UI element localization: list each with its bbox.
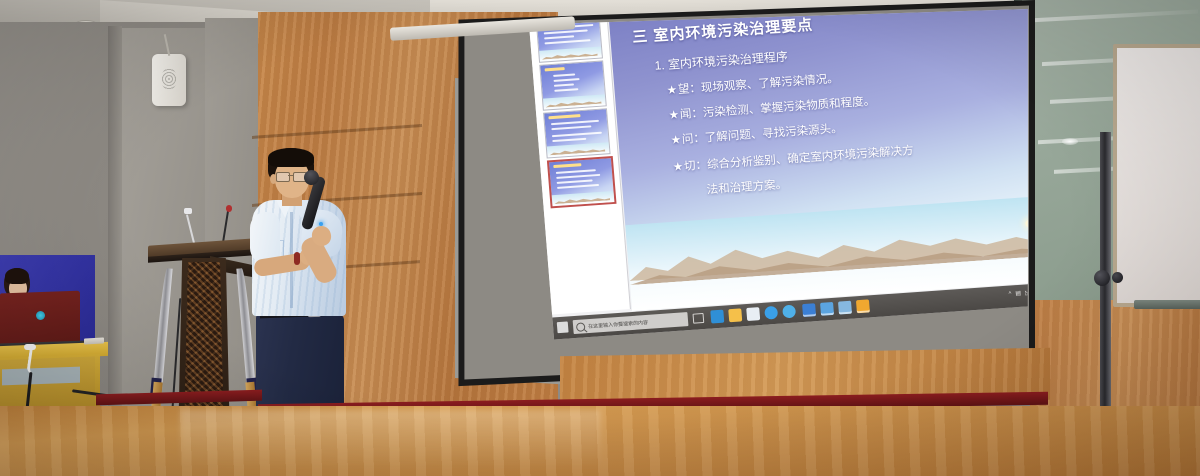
file-explorer-icon[interactable] <box>728 308 742 322</box>
bullet-text: 污染检测、掌握污染物质和程度。 <box>702 96 875 120</box>
edge-icon[interactable] <box>710 310 724 324</box>
phone-on-table <box>84 337 104 344</box>
star-icon: ★ <box>666 84 677 97</box>
slide-bullet-4: ★切：综合分析鉴别、确定室内环境污染解决方 <box>672 142 914 175</box>
bullet-text: 了解问题、寻找污染源头。 <box>704 123 843 145</box>
system-tray[interactable]: ^ ▤ ◺ ◁» 10:54 2018/9/19 <box>1008 285 1029 301</box>
slide-thumbnail[interactable] <box>547 156 617 208</box>
star-icon: ★ <box>670 134 681 147</box>
slide-bullet-3: ★问：了解问题、寻找污染源头。 <box>670 120 843 148</box>
flipchart-clamp-knob[interactable] <box>1112 272 1123 283</box>
slide-subtitle: 1. 室内环境污染治理程序 <box>654 48 788 74</box>
search-icon <box>576 322 586 332</box>
bullet-label: 问 <box>682 133 694 146</box>
browser-icon[interactable] <box>764 306 778 320</box>
wall-speaker-icon <box>152 54 186 106</box>
glass-light-reflection <box>1062 138 1078 145</box>
gooseneck-mic-head-right <box>226 205 232 212</box>
search-input[interactable]: 在这里输入你要搜索的内容 <box>573 312 689 334</box>
projected-desktop: 三 室内环境污染治理要点 1. 室内环境污染治理程序 ★望：现场观察、了解污染情… <box>463 6 1029 386</box>
laptop-logo-icon <box>36 311 45 320</box>
flipchart-pen-tray <box>1134 300 1200 309</box>
wall-corner <box>108 26 122 450</box>
star-icon: ★ <box>672 161 683 174</box>
explorer-window-icon[interactable] <box>838 301 852 315</box>
bullet-label: 闻 <box>680 108 692 121</box>
word-icon[interactable] <box>802 303 816 317</box>
slide-bullet-1: ★望：现场观察、了解污染情况。 <box>666 70 839 98</box>
slide-bullet-2: ★闻：污染检测、掌握污染物质和程度。 <box>668 93 876 123</box>
powerpoint-icon[interactable] <box>820 302 834 316</box>
operator-hair <box>5 268 29 284</box>
usb-lamp-head <box>24 344 36 350</box>
start-button-icon[interactable] <box>557 321 569 333</box>
projection-screen: 三 室内环境污染治理要点 1. 室内环境污染治理程序 ★望：现场观察、了解污染情… <box>455 0 1035 395</box>
tray-network-icon[interactable]: ▤ <box>1015 291 1021 297</box>
bullet-label: 切 <box>684 160 696 173</box>
glasses-icon <box>276 172 306 180</box>
lecture-hall-scene: 三 室内环境污染治理要点 1. 室内环境污染治理程序 ★望：现场观察、了解污染情… <box>0 0 1200 476</box>
wood-seam <box>252 124 422 139</box>
task-view-icon[interactable] <box>692 313 704 324</box>
presenter-bracelet <box>294 252 300 265</box>
powerpoint-window: 三 室内环境污染治理要点 1. 室内环境污染治理程序 ★望：现场观察、了解污染情… <box>527 6 1029 339</box>
star-icon: ★ <box>668 109 679 122</box>
flipchart-adjust-knob[interactable] <box>1094 270 1110 286</box>
bullet-text: 现场观察、了解污染情况。 <box>701 73 840 95</box>
slide-thumbnail[interactable] <box>539 60 606 110</box>
presenter-hair-front <box>268 148 314 167</box>
mountain-range-far <box>627 217 1029 281</box>
slide-bullet-continuation: 法和治理方案。 <box>706 176 788 198</box>
chat-icon[interactable] <box>782 305 796 319</box>
floor-reflection <box>180 410 600 470</box>
slide-thumbnail[interactable] <box>543 108 610 158</box>
search-placeholder-text: 在这里输入你要搜索的内容 <box>588 318 648 329</box>
active-app-icon[interactable] <box>856 299 870 313</box>
current-slide[interactable]: 三 室内环境污染治理要点 1. 室内环境污染治理程序 ★望：现场观察、了解污染情… <box>608 6 1029 311</box>
bullet-label: 望 <box>678 83 690 96</box>
flipchart-whiteboard <box>1113 44 1200 307</box>
bullet-text: 综合分析鉴别、确定室内环境污染解决方 <box>707 145 914 171</box>
store-icon[interactable] <box>746 307 760 321</box>
gooseneck-mic-head-left <box>184 208 192 214</box>
tray-chevron-icon[interactable]: ^ <box>1008 291 1011 297</box>
table-shelf <box>2 367 80 386</box>
